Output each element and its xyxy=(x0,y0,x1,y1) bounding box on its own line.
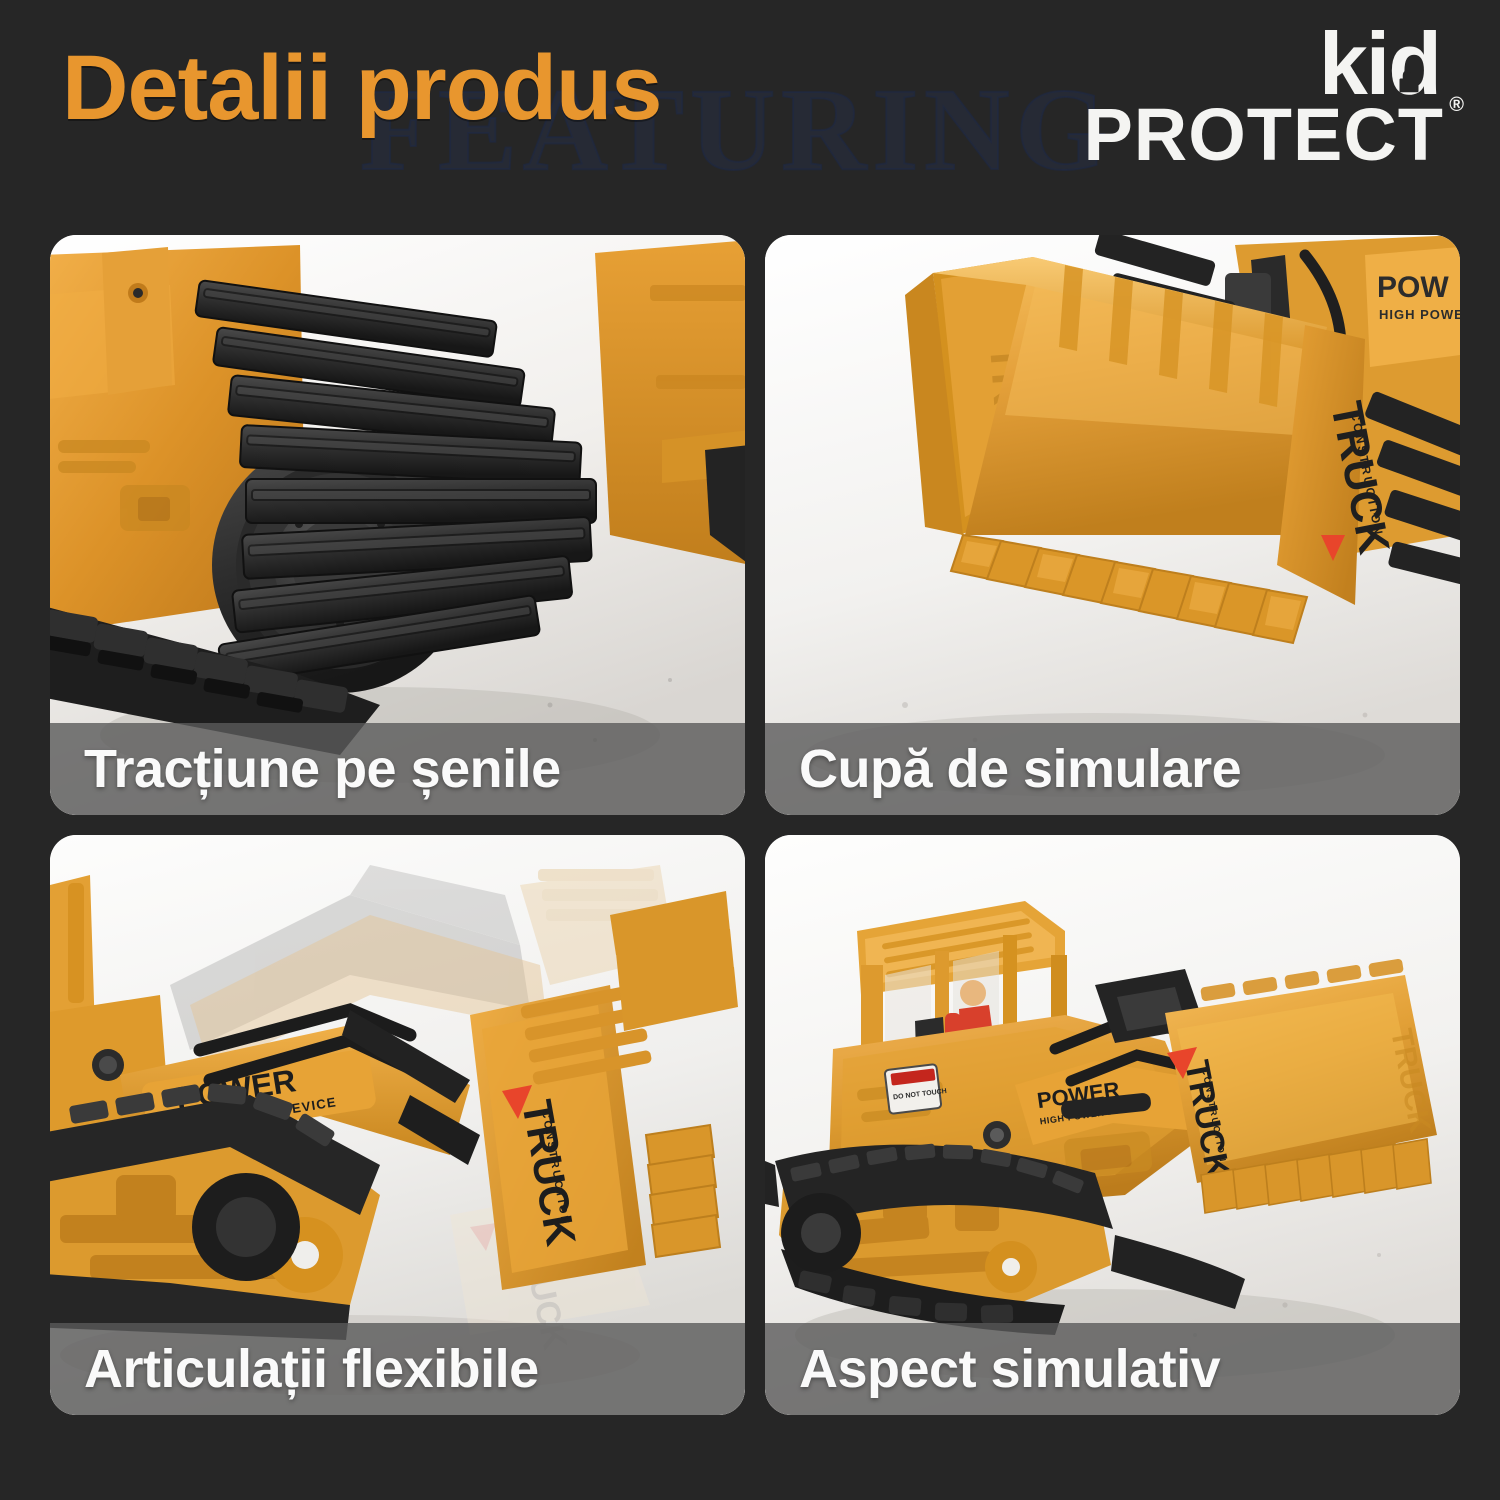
panel-bucket[interactable]: POW HIGH POWE xyxy=(765,235,1460,815)
panel-caption-look: Aspect simulativ xyxy=(765,1323,1460,1415)
logo-protect-text: PROTECT ® xyxy=(1034,100,1444,170)
panel-caption-joints: Articulații flexibile xyxy=(50,1323,745,1415)
padlock-icon xyxy=(1394,66,1424,96)
feature-panel-grid: Tracțiune pe șenile xyxy=(50,235,1450,1450)
caption-text: Articulații flexibile xyxy=(84,1338,539,1400)
registered-trademark-symbol: ® xyxy=(1449,96,1464,115)
panel-tracks[interactable]: Tracțiune pe șenile xyxy=(50,235,745,815)
panel-caption-tracks: Tracțiune pe șenile xyxy=(50,723,745,815)
header: FEATURING Detalii produs kid PROTECT ® xyxy=(0,0,1500,235)
panel-look[interactable]: DO NOT TOUCH POWER HIGH POWER DEVICE xyxy=(765,835,1460,1415)
warning-decal: DO NOT TOUCH xyxy=(885,1064,948,1114)
decal-power-sub-bg: HIGH POWE xyxy=(1379,307,1460,322)
product-detail-infographic: FEATURING Detalii produs kid PROTECT ® xyxy=(0,0,1500,1500)
panel-joints[interactable]: TRUCK POWER HIGH POWER DEVICE xyxy=(50,835,745,1415)
bucket: TRUCK CONSTRUCTION TRUCK xyxy=(1165,958,1437,1213)
decal-power-bg: POW xyxy=(1377,271,1449,304)
caption-text: Tracțiune pe șenile xyxy=(84,738,561,800)
logo-protect-label: PROTECT xyxy=(1083,93,1444,176)
page-title: Detalii produs xyxy=(62,36,661,141)
caption-text: Cupă de simulare xyxy=(799,738,1241,800)
caption-text: Aspect simulativ xyxy=(799,1338,1220,1400)
brand-logo: kid PROTECT ® xyxy=(1034,22,1444,170)
panel-caption-bucket: Cupă de simulare xyxy=(765,723,1460,815)
